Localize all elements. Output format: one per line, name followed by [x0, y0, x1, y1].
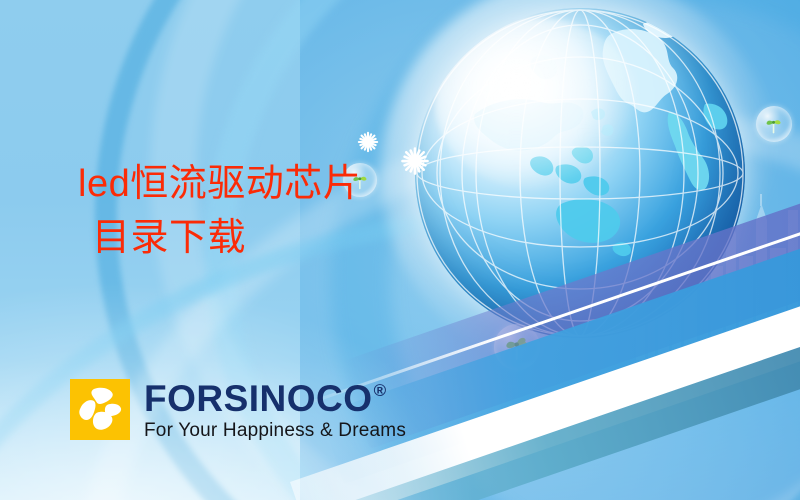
brand-name: FORSINOCO [144, 380, 373, 417]
sparkle-icon-1 [357, 131, 379, 153]
brand-tagline: For Your Happiness & Dreams [144, 421, 406, 440]
headline-line-1: led恒流驱动芯片 [78, 163, 361, 205]
promo-banner: led恒流驱动芯片 目录下载 FORSINOCO ® For Your Happ… [0, 0, 800, 500]
brand-wordmark: FORSINOCO ® [144, 380, 406, 417]
brand-logo: FORSINOCO ® For Your Happiness & Dreams [70, 379, 406, 440]
headline: led恒流驱动芯片 目录下载 [78, 158, 361, 266]
bubble-3 [756, 106, 792, 142]
globe-highlight [435, 18, 640, 190]
headline-line-2: 目录下载 [78, 212, 361, 266]
registered-trademark-icon: ® [374, 382, 387, 399]
sparkle-icon-2 [400, 146, 430, 176]
forsinoco-flower-mark-icon [70, 379, 130, 440]
logo-text-block: FORSINOCO ® For Your Happiness & Dreams [144, 380, 406, 440]
windmill-icon-3 [762, 112, 785, 135]
